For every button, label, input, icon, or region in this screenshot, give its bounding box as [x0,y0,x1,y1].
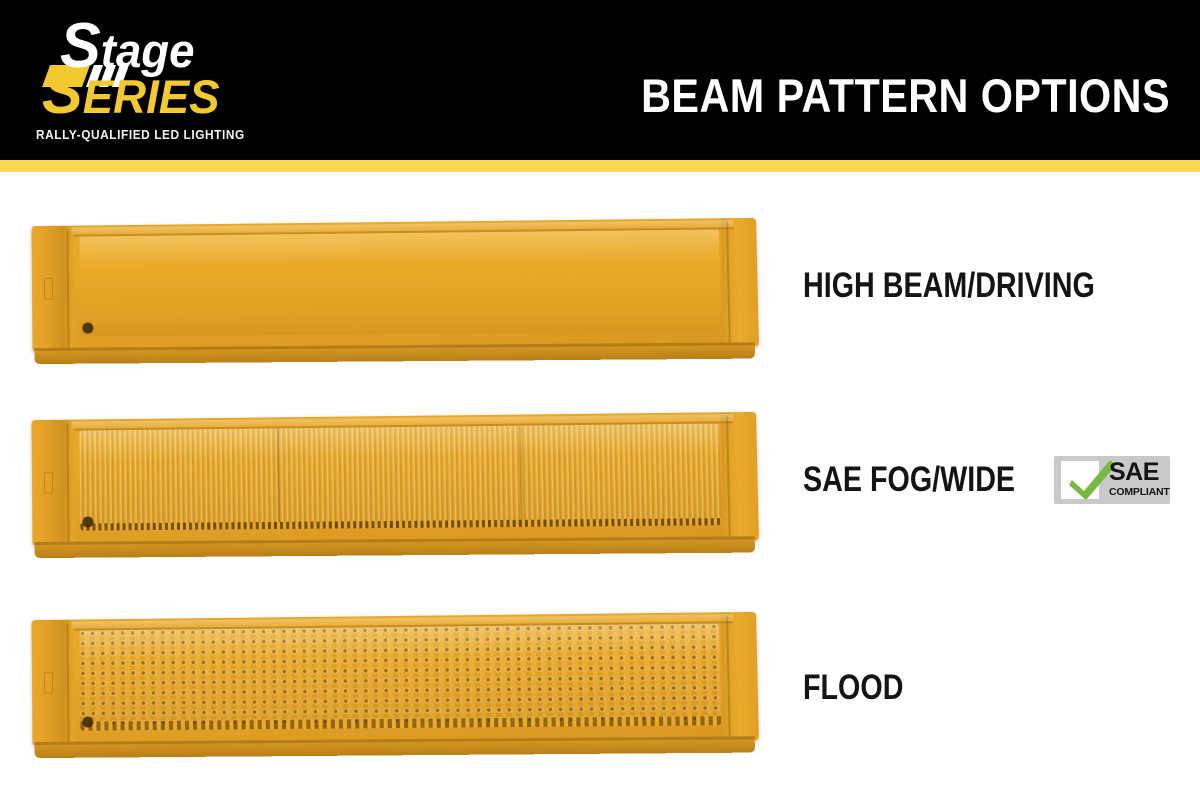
page-title: BEAM PATTERN OPTIONS [641,68,1170,123]
lens-left-end-cap [31,226,74,352]
beam-option-label-sae-fog: SAE FOG/WIDE [803,460,1015,500]
lens-image-sae-fog [32,420,744,550]
beam-pattern-options-page: Stage SERIES RALLY-QUALIFIED LED LIGHTIN… [0,0,1200,800]
beam-option-label-high-beam: HIGH BEAM/DRIVING [803,266,1095,306]
lens-optic-face-fluted [80,423,722,530]
lens-corner-marker [82,716,93,727]
logo-series-capital: S [42,57,83,127]
lens-corner-marker [82,322,93,333]
logo-tagline: RALLY-QUALIFIED LED LIGHTING [36,128,245,142]
lens-right-end-cap [721,412,759,541]
lens-body [31,612,759,746]
lens-right-end-cap [721,612,759,741]
fluted-optic-pattern [80,423,722,530]
beam-option-row-flood: FLOOD [0,612,1200,772]
lens-image-high-beam [32,226,744,356]
lens-left-end-cap [31,620,74,746]
lens-corner-marker [82,516,93,527]
lens-body [31,412,759,546]
header-accent-rule [0,160,1200,172]
beam-option-row-sae-fog: SAE FOG/WIDE SAE COMPLIANT [0,412,1200,562]
logo-series-rest: ERIES [83,70,220,123]
lens-body [31,218,759,352]
sae-compliant-badge: SAE COMPLIANT [1054,456,1170,504]
beam-option-label-flood: FLOOD [803,668,903,708]
smooth-optic-pattern [80,229,722,336]
lens-optic-face-dimpled [80,623,722,730]
lens-optic-face-smooth [80,229,722,336]
lens-right-end-cap [721,218,759,347]
sae-badge-text: SAE COMPLIANT [1109,460,1167,498]
beam-option-row-high-beam: HIGH BEAM/DRIVING [0,218,1200,368]
sae-badge-sub-text: COMPLIANT [1109,486,1167,498]
lens-image-flood [32,620,744,750]
header-bar: Stage SERIES RALLY-QUALIFIED LED LIGHTIN… [0,0,1200,160]
stage-series-logo: Stage SERIES RALLY-QUALIFIED LED LIGHTIN… [30,18,260,138]
lens-left-end-cap [31,420,74,546]
logo-line-series: SERIES [42,66,220,123]
sae-badge-main-text: SAE [1109,460,1167,485]
dimpled-optic-pattern [80,623,722,730]
